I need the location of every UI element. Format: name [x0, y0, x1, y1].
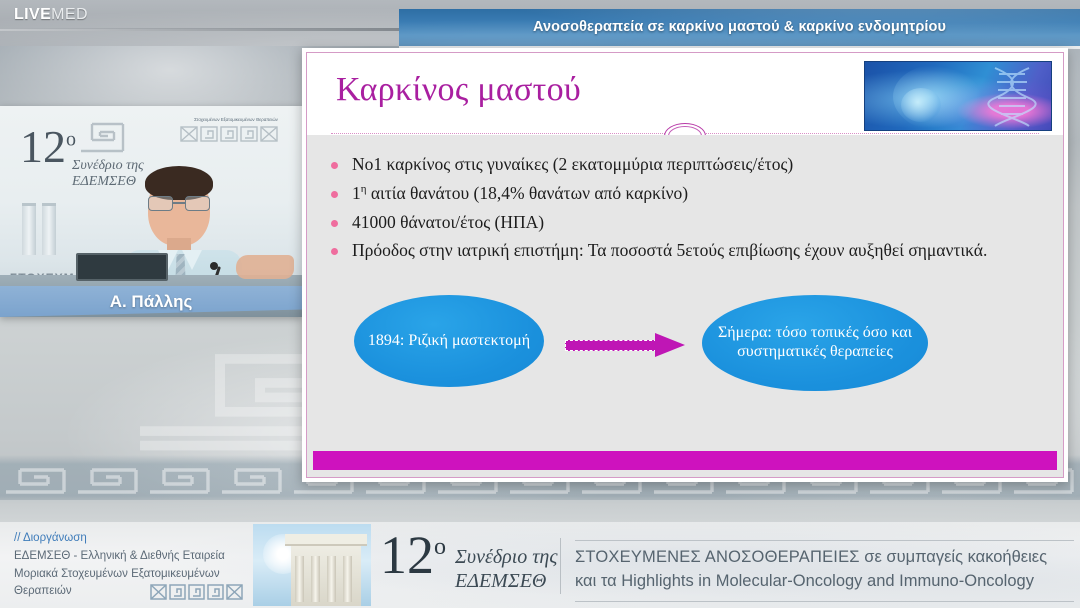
- organizer-meander-icons: [150, 584, 255, 600]
- bullet-list: Νο1 καρκίνος στις γυναίκες (2 εκατομμύρι…: [331, 153, 1043, 268]
- temple-roof: [285, 534, 367, 546]
- breast-shape: [901, 88, 941, 122]
- slide-header: Καρκίνος μαστού: [307, 53, 1063, 135]
- bottom-conf-sub-line2: ΕΔΕΜΣΕΘ: [455, 570, 557, 594]
- slide-inner: Καρκίνος μαστού: [306, 52, 1064, 478]
- video-conf-ordinal: o: [66, 129, 76, 151]
- flow-diagram: 1894: Ριζική μαστεκτομή Σήμερα: τόσο τοπ…: [327, 295, 1043, 395]
- temple-column: [295, 556, 304, 602]
- slide-title: Καρκίνος μαστού: [336, 71, 581, 109]
- temple-column: [327, 556, 336, 602]
- speaker-hair: [145, 166, 213, 200]
- speaker-video[interactable]: 12o Συνέδριο της ΕΔΕΜΣΕΘ Στοχευμένων Εξα…: [0, 106, 302, 317]
- event-title-caps: ΣΤΟΧΕΥΜΕΝΕΣ ΑΝΟΣΟΘΕΡΑΠΕΙΕΣ: [575, 548, 860, 566]
- bullet-text-pre: 1: [352, 183, 361, 203]
- session-title-text: Ανοσοθεραπεία σε καρκίνο μαστού & καρκίν…: [399, 9, 1080, 46]
- video-conf-num-text: 12: [20, 121, 66, 172]
- logo-med-text: MED: [51, 6, 88, 23]
- flow-node-right: Σήμερα: τόσο τοπικές όσο και συστηματικέ…: [702, 295, 928, 391]
- pillar-decor: [42, 203, 56, 255]
- speaker-name-text: Α. Πάλλης: [110, 292, 193, 312]
- event-title-line-1: ΣΤΟΧΕΥΜΕΝΕΣ ΑΝΟΣΟΘΕΡΑΠΕΙΕΣ σε συμπαγείς …: [575, 546, 1072, 570]
- list-item: Νο1 καρκίνος στις γυναίκες (2 εκατομμύρι…: [331, 153, 1043, 176]
- bottom-conference-subtitle: Συνέδριο της ΕΔΕΜΣΕΘ: [455, 546, 557, 593]
- video-org-header: Στοχευμένων Εξατομικευμένων Θεραπειών: [176, 116, 296, 124]
- livemed-logo[interactable]: LIVEMED: [14, 6, 88, 24]
- bullet-text: 41000 θάνατοι/έτος (ΗΠΑ): [352, 211, 544, 234]
- logo-live-text: LIVE: [14, 6, 51, 23]
- floor-band: [0, 500, 1080, 522]
- bullet-dot-icon: [331, 220, 338, 227]
- bullet-dot-icon: [331, 248, 338, 255]
- right-arrow-icon: [565, 333, 687, 357]
- dna-helix-icon: [983, 66, 1041, 128]
- slide-footer-bar: [313, 451, 1057, 470]
- bullet-text: 1η αιτία θανάτου (18,4% θανάτων από καρκ…: [352, 182, 688, 205]
- bottom-banner: // Διοργάνωση ΕΔΕΜΣΕΘ - Ελληνική & Διεθν…: [0, 522, 1080, 608]
- flow-node-left: 1894: Ριζική μαστεκτομή: [354, 295, 544, 387]
- bottom-conf-sub-line1: Συνέδριο της: [455, 546, 557, 570]
- slide-body: Νο1 καρκίνος στις γυναίκες (2 εκατομμύρι…: [307, 135, 1063, 477]
- list-item: 41000 θάνατοι/έτος (ΗΠΑ): [331, 211, 1043, 234]
- event-title-line-2: και τα Highlights in Molecular-Oncology …: [575, 570, 1072, 594]
- bullet-text: Πρόοδος στην ιατρική επιστήμη: Τα ποσοστ…: [352, 239, 987, 262]
- audience-hands: [236, 255, 294, 279]
- bottom-conf-num-text: 12: [380, 525, 434, 585]
- pillar-decor: [22, 203, 36, 255]
- flow-node-right-label: Σήμερα: τόσο τοπικές όσο και συστηματικέ…: [702, 324, 928, 362]
- bottom-conference-number: 12o: [380, 528, 446, 582]
- bullet-text-post: αιτία θανάτου (18,4% θανάτων από καρκίνο…: [367, 183, 689, 203]
- list-item: 1η αιτία θανάτου (18,4% θανάτων από καρκ…: [331, 182, 1043, 205]
- session-title-bar: Ανοσοθεραπεία σε καρκίνο μαστού & καρκίν…: [399, 9, 1080, 46]
- bottom-rule-top: [575, 540, 1074, 541]
- list-item: Πρόοδος στην ιατρική επιστήμη: Τα ποσοστ…: [331, 239, 1043, 262]
- top-divider-line: [0, 28, 420, 31]
- laptop-icon: [76, 253, 168, 281]
- bottom-rule-bottom: [575, 601, 1074, 602]
- temple-column: [311, 556, 320, 602]
- bullet-text: Νο1 καρκίνος στις γυναίκες (2 εκατομμύρι…: [352, 153, 793, 176]
- event-title-rest: σε συμπαγείς κακοήθειες: [860, 548, 1047, 566]
- temple-column: [343, 556, 352, 602]
- presentation-slide[interactable]: Καρκίνος μαστού: [302, 48, 1068, 482]
- video-conference-number: 12o: [20, 124, 76, 170]
- video-org-meander-icons: [180, 126, 292, 142]
- bottom-vertical-divider: [560, 538, 561, 594]
- bottom-conf-ordinal: o: [434, 534, 446, 560]
- breast-anatomy-illustration-icon: [864, 61, 1052, 131]
- speaker-glasses-icon: [148, 196, 210, 211]
- flow-node-left-label: 1894: Ριζική μαστεκτομή: [368, 332, 530, 351]
- bullet-dot-icon: [331, 191, 338, 198]
- bullet-dot-icon: [331, 162, 338, 169]
- event-title-block: ΣΤΟΧΕΥΜΕΝΕΣ ΑΝΟΣΟΘΕΡΑΠΕΙΕΣ σε συμπαγείς …: [575, 546, 1072, 594]
- acropolis-photo: [253, 524, 371, 606]
- conference-meander-logo-icon: [78, 120, 126, 154]
